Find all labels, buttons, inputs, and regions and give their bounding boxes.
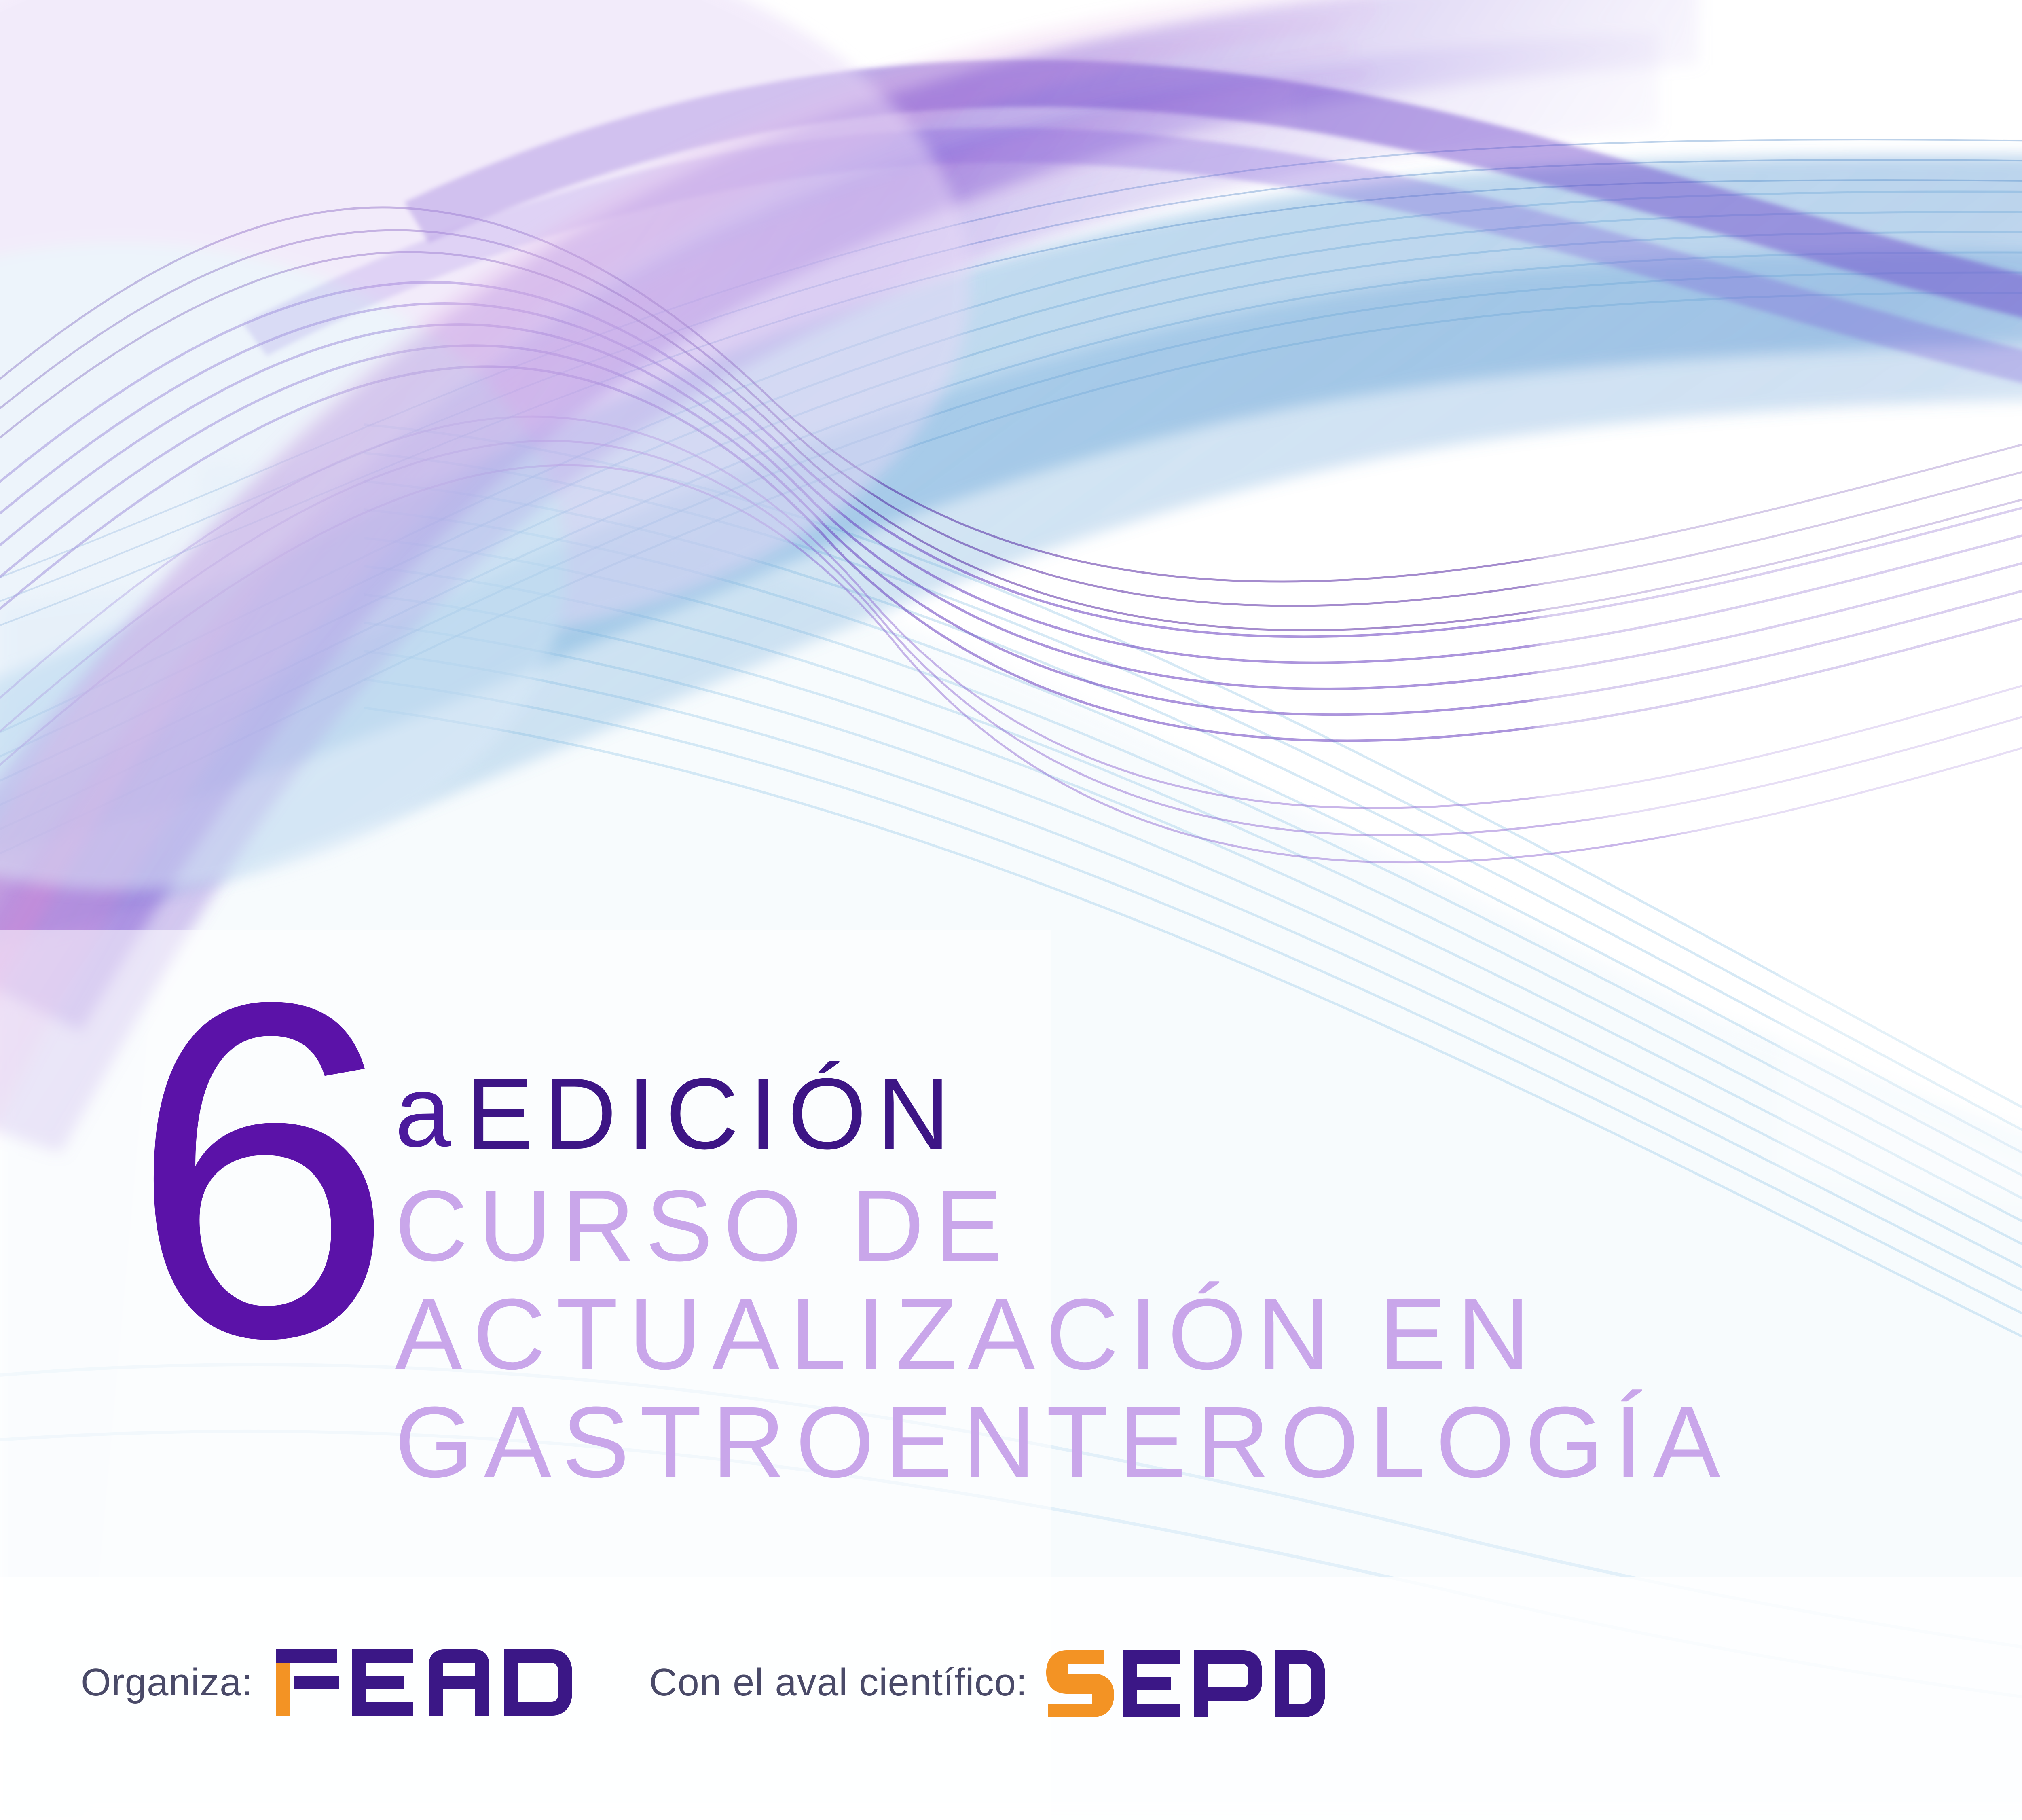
course-title-line-1: CURSO DE — [395, 1172, 1731, 1280]
course-title-line-2: ACTUALIZACIÓN EN — [395, 1280, 1731, 1388]
endorsement-label: Con el aval científico: — [649, 1660, 1027, 1705]
title-block: 6 a EDICIÓN CURSO DE ACTUALIZACIÓN EN GA… — [121, 999, 1982, 1496]
course-title-line-3: GASTROENTEROLOGÍA — [395, 1388, 1731, 1496]
fead-logo — [273, 1642, 580, 1723]
banner-canvas: 6 a EDICIÓN CURSO DE ACTUALIZACIÓN EN GA… — [0, 0, 2022, 1820]
fead-logo-text — [276, 1649, 572, 1716]
organizer-label: Organiza: — [81, 1660, 253, 1705]
edition-number: 6 — [129, 975, 387, 1366]
sepd-logo-text — [1123, 1650, 1325, 1717]
edition-line: a EDICIÓN — [395, 1056, 1731, 1172]
sepd-logo — [1044, 1642, 1327, 1723]
sepd-logo-accent — [1046, 1650, 1114, 1717]
edition-word: EDICIÓN — [465, 1056, 960, 1172]
fead-logo-accent — [276, 1663, 290, 1716]
ordinal-suffix: a — [395, 1053, 451, 1169]
footer-logos: Organiza: Con el aval científico: — [81, 1642, 1327, 1723]
